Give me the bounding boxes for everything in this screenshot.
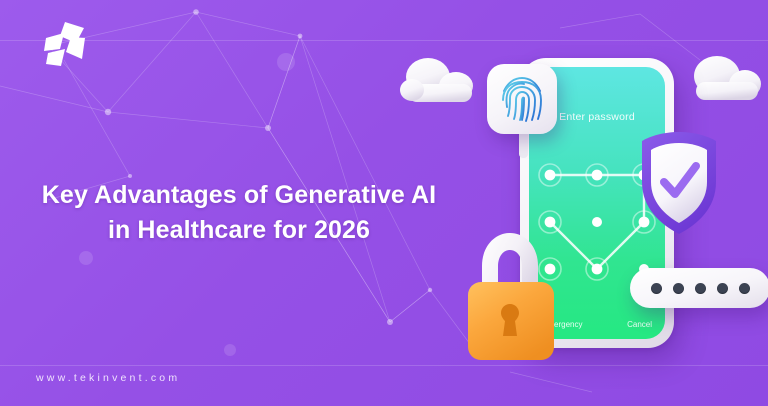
fingerprint-card[interactable] [487,64,557,134]
cloud-icon [398,56,484,108]
promo-banner: Key Advantages of Generative AI in Healt… [0,0,768,406]
password-dot [717,283,728,294]
padlock-icon [458,222,562,364]
website-url[interactable]: www.tekinvent.com [36,372,180,384]
cancel-button[interactable]: Cancel [627,320,652,329]
cloud-icon [685,54,767,104]
fingerprint-icon [499,74,545,124]
password-dot [673,283,684,294]
password-dot [695,283,706,294]
password-dots-field[interactable] [630,268,768,308]
tekinvent-pinwheel-logo[interactable] [38,16,94,74]
security-illustration: Enter password [380,0,768,406]
password-dot [739,283,750,294]
shield-check-icon [638,130,720,236]
password-dot [651,283,662,294]
